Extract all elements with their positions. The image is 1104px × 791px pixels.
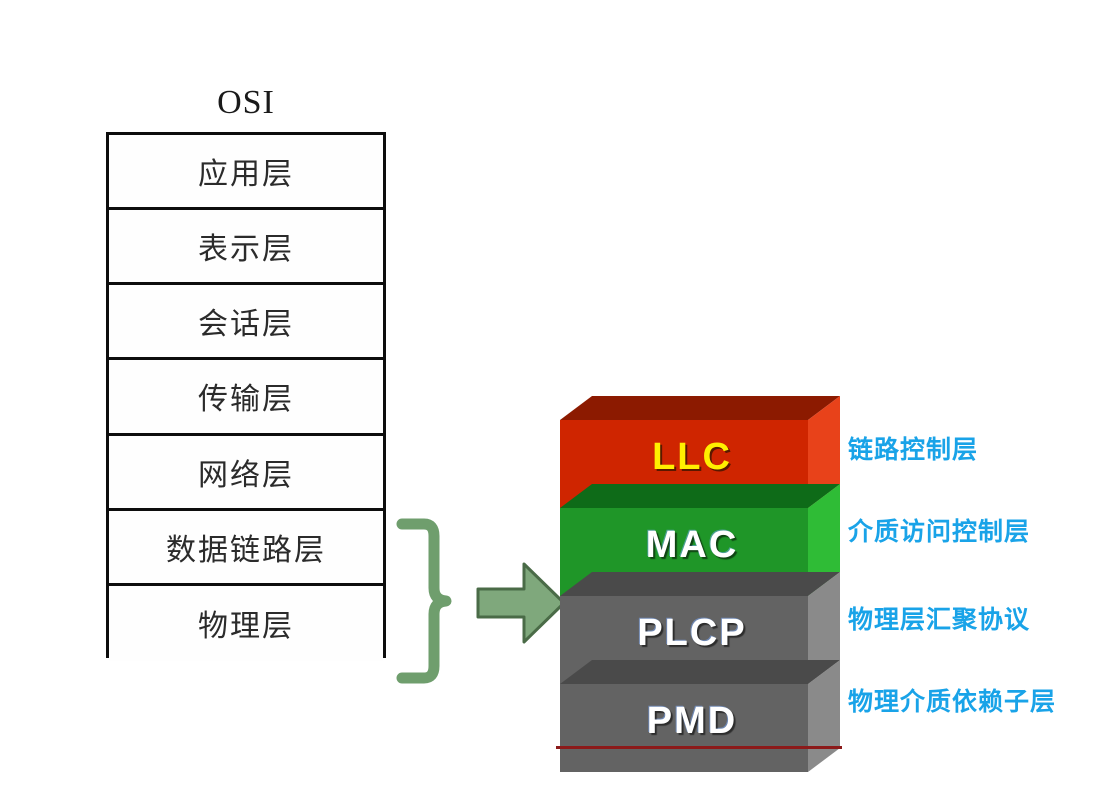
side-label-llc: 链路控制层 xyxy=(848,438,978,463)
osi-layer-row: 数据链路层 xyxy=(109,511,383,586)
osi-layer-row: 网络层 xyxy=(109,436,383,511)
side-label-pmd: 物理介质依赖子层 xyxy=(848,690,1056,715)
osi-heading: OSI xyxy=(106,86,386,120)
protocol-block-stack: LLC MAC PLCP xyxy=(556,392,856,752)
osi-layer-row: 会话层 xyxy=(109,285,383,360)
osi-layer-row: 传输层 xyxy=(109,360,383,435)
osi-layer-row: 应用层 xyxy=(109,135,383,210)
side-label-plcp: 物理层汇聚协议 xyxy=(848,608,1030,633)
stack-baseline xyxy=(556,746,842,749)
side-label-mac: 介质访问控制层 xyxy=(848,520,1030,545)
diagram-canvas: OSI 应用层 表示层 会话层 传输层 网络层 数据链路层 物理层 LLC xyxy=(0,0,1104,784)
osi-layer-row: 物理层 xyxy=(109,586,383,661)
curly-brace-icon xyxy=(390,512,462,690)
osi-layer-table: 应用层 表示层 会话层 传输层 网络层 数据链路层 物理层 xyxy=(106,132,386,658)
osi-layer-row: 表示层 xyxy=(109,210,383,285)
right-arrow-icon xyxy=(472,558,568,648)
block-pmd: PMD xyxy=(556,656,856,786)
